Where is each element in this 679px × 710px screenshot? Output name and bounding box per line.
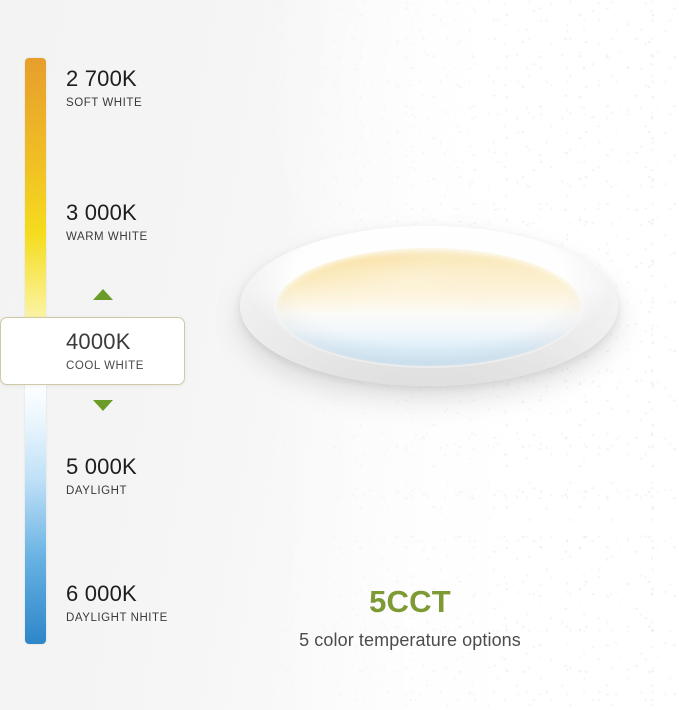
round-ceiling-light-fixture: [240, 222, 618, 404]
triangle-up-icon[interactable]: [93, 289, 113, 300]
caption-subline: 5 color temperature options: [240, 627, 580, 653]
cct-option-6000k[interactable]: 6 000K DAYLIGHT NHITE: [66, 581, 168, 626]
cct-name-label: COOL WHITE: [66, 358, 144, 374]
cct-name-label: DAYLIGHT NHITE: [66, 610, 168, 626]
cct-name-label: WARM WHITE: [66, 229, 148, 245]
fixture-lens: [276, 248, 582, 366]
cct-kelvin-label: 4000K: [66, 329, 144, 355]
cct-option-5000k[interactable]: 5 000K DAYLIGHT: [66, 454, 137, 499]
caption-block: 5CCT 5 color temperature options: [240, 583, 580, 653]
triangle-down-icon[interactable]: [93, 400, 113, 411]
cct-kelvin-label: 6 000K: [66, 581, 168, 607]
cct-kelvin-label: 2 700K: [66, 66, 142, 92]
cct-name-label: DAYLIGHT: [66, 483, 137, 499]
caption-headline: 5CCT: [240, 583, 580, 621]
cct-name-label: SOFT WHITE: [66, 95, 142, 111]
fixture-lens-gloss: [276, 248, 582, 366]
product-feature-image: 2 700K SOFT WHITE 3 000K WARM WHITE 4000…: [0, 0, 679, 710]
cct-option-3000k[interactable]: 3 000K WARM WHITE: [66, 200, 148, 245]
cct-kelvin-label: 5 000K: [66, 454, 137, 480]
cct-option-4000k-label[interactable]: 4000K COOL WHITE: [66, 329, 144, 374]
cct-option-2700k[interactable]: 2 700K SOFT WHITE: [66, 66, 142, 111]
cct-kelvin-label: 3 000K: [66, 200, 148, 226]
